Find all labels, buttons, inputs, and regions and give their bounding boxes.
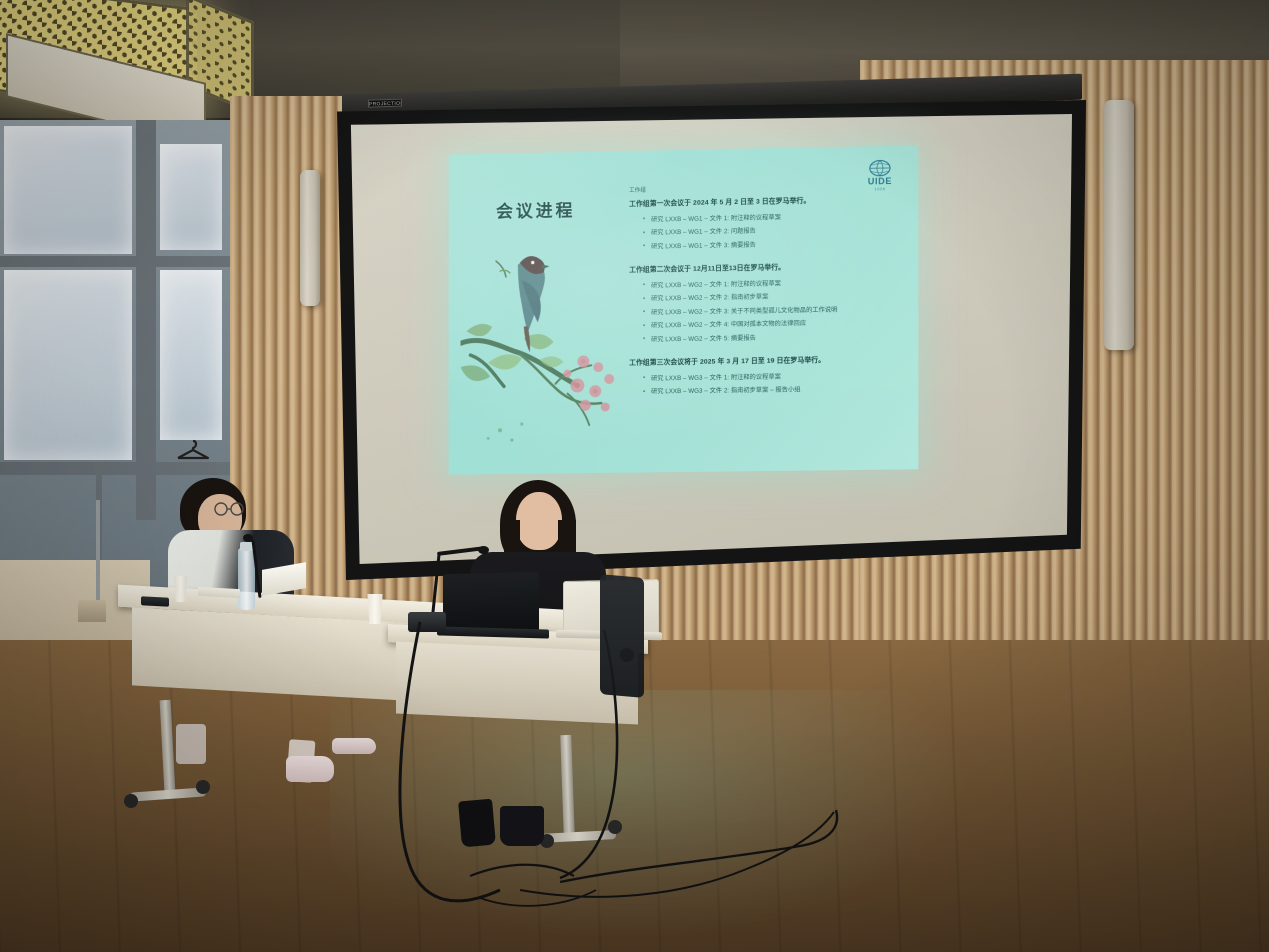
list-item: 研究 LXXB – WG3 – 文件 1: 附注释的议程草案 [643,371,906,384]
list-item: 研究 LXXB – WG2 – 文件 5: 摘要报告 [643,332,906,345]
section-heading-2: 工作组第二次会议于 12月11日至13日在罗马举行。 [629,261,906,276]
window-pane [4,126,132,254]
window-pane [160,144,222,250]
chair-leg [176,724,206,764]
section-bullets-2: 研究 LXXB – WG2 – 文件 1: 附注释的议程草案 研究 LXXB –… [643,278,906,345]
list-item: 研究 LXXB – WG2 – 文件 1: 附注释的议程草案 [643,278,906,291]
list-item: 研究 LXXB – WG3 – 文件 2: 指南初步草案 – 报告小组 [643,385,906,398]
window-mullion [136,120,156,520]
section-heading-3: 工作组第三次会议将于 2025 年 3 月 17 日至 19 日在罗马举行。 [629,354,906,368]
section-bullets-1: 研究 LXXB – WG1 – 文件 1: 附注释的议程草案 研究 LXXB –… [643,212,906,253]
slide-group-label: 工作组 [629,182,906,195]
list-item: 研究 LXXB – WG2 – 文件 2: 指南初步草案 [643,292,906,305]
bird-branch-artwork [461,233,630,460]
screen-brand-badge: PROJECTION [368,99,402,108]
list-item: 研究 LXXB – WG1 – 文件 3: 摘要报告 [643,239,906,253]
window-pane [160,270,222,440]
head [516,492,562,550]
section-bullets-3: 研究 LXXB – WG3 – 文件 1: 附注释的议程草案 研究 LXXB –… [643,371,906,397]
window-pane [4,270,132,460]
list-item: 研究 LXXB – WG1 – 文件 2: 问题报告 [643,225,906,239]
wall-speaker-right [1104,100,1134,350]
shoe [500,806,544,846]
conference-room-scene: PROJECTION 会议进程 UIDE 1926 [0,0,1269,952]
globe-icon [867,159,893,178]
shoe [332,738,376,754]
clothes-hanger-icon [176,438,210,464]
shoe [458,799,496,848]
list-item: 研究 LXXB – WG1 – 文件 1: 附注释的议程草案 [643,212,906,226]
slide-body: 工作组 工作组第一次会议于 2024 年 5 月 2 日至 3 日在罗马举行。 … [629,182,906,402]
wall-speaker-left [300,170,320,306]
microphone-capsule [243,534,253,542]
slide-title: 会议进程 [496,196,575,222]
projected-slide: 会议进程 UIDE 1926 [449,145,919,474]
glasses-icon [212,502,246,516]
list-item: 研究 LXXB – WG2 – 文件 4: 中国对孤本文物的法律回应 [643,319,906,332]
chair-back [600,574,644,698]
window-mullion [0,256,236,267]
section-heading-1: 工作组第一次会议于 2024 年 5 月 2 日至 3 日在罗马举行。 [629,195,906,210]
shoe [286,756,334,782]
list-item: 研究 LXXB – WG2 – 文件 3: 关于不同类型孤儿文化物品的工作说明 [643,305,906,318]
